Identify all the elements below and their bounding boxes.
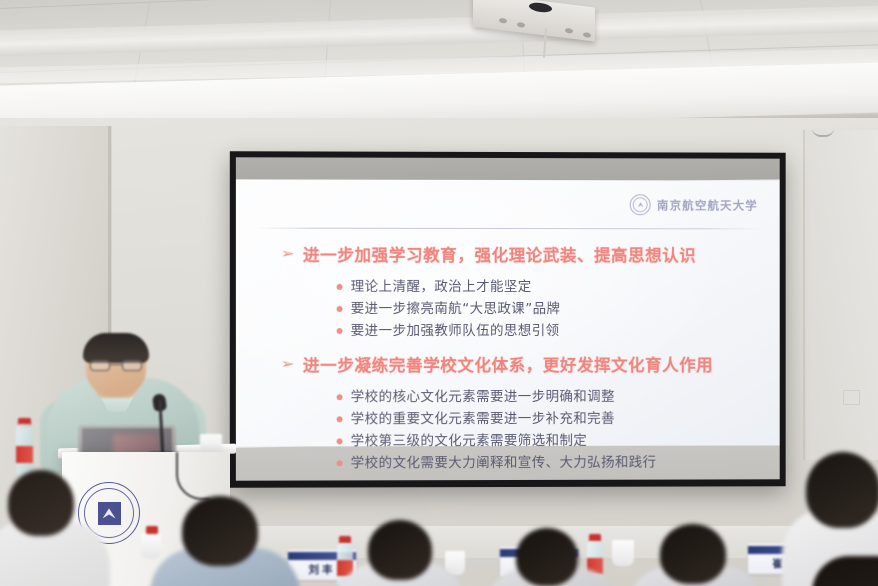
speaker-hair — [83, 333, 149, 363]
light-switch-plate — [843, 390, 860, 405]
list-item: 理论上清醒，政治上才能坚定 — [260, 277, 762, 299]
bullet-dot-icon — [337, 460, 343, 466]
projection-screen: 南京航空航天大学 ➢ 进一步加强学习教育，强化理论武装、提高思想认识 理论上清醒… — [230, 151, 786, 488]
eyeglasses-icon — [90, 360, 142, 371]
slide-header-divider — [254, 228, 762, 230]
list-item: 学校第三级的文化元素需要筛选和制定 — [260, 430, 762, 453]
conference-room-photo: 南京航空航天大学 ➢ 进一步加强学习教育，强化理论武装、提高思想认识 理论上清醒… — [0, 0, 878, 586]
section-1-heading-text: 进一步加强学习教育，强化理论武装、提高思想认识 — [303, 242, 696, 266]
list-item: 学校的重要文化元素需要进一步补充和完善 — [260, 408, 762, 431]
bullet-text: 学校的核心文化元素需要进一步明确和调整 — [351, 387, 615, 409]
list-item: 学校的核心文化元素需要进一步明确和调整 — [260, 387, 762, 409]
water-bottle-cap — [146, 526, 158, 534]
section-1-bullets: 理论上清醒，政治上才能坚定 要进一步擦亮南航“大思政课”品牌 要进一步加强教师队… — [260, 277, 762, 343]
bullet-text: 要进一步加强教师队伍的思想引领 — [351, 321, 560, 343]
paper-cup — [141, 534, 161, 559]
audience-head — [368, 520, 432, 580]
bullet-dot-icon — [337, 328, 343, 334]
university-emblem-icon — [630, 194, 651, 215]
university-logo-text: 南京航空航天大学 — [657, 197, 758, 213]
list-item: 学校的文化需要大力阐释和宣传、大力弘扬和践行 — [260, 452, 762, 475]
bullet-text: 学校的重要文化元素需要进一步补充和完善 — [351, 409, 615, 431]
bullet-text: 学校第三级的文化元素需要筛选和制定 — [351, 431, 588, 453]
screen-surface: 南京航空航天大学 ➢ 进一步加强学习教育，强化理论武装、提高思想认识 理论上清醒… — [236, 157, 780, 480]
audience-head — [8, 470, 74, 536]
water-bottle-label — [16, 446, 33, 463]
right-wall — [806, 130, 878, 460]
bullet-dot-icon — [337, 416, 343, 422]
bullet-dot-icon — [337, 438, 343, 444]
audience-head — [660, 524, 726, 584]
section-2-bullets: 学校的核心文化元素需要进一步明确和调整 学校的重要文化元素需要进一步补充和完善 … — [260, 387, 762, 475]
section-2-heading: ➢ 进一步凝练完善学校文化体系，更好发挥文化育人作用 — [260, 352, 762, 376]
bullet-text: 学校的文化需要大力阐释和宣传、大力弘扬和践行 — [351, 452, 657, 475]
section-1-heading: ➢ 进一步加强学习教育，强化理论武装、提高思想认识 — [260, 242, 762, 267]
audience-head — [182, 496, 258, 566]
slide-section-1: ➢ 进一步加强学习教育，强化理论武装、提高思想认识 理论上清醒，政治上才能坚定 … — [260, 242, 762, 343]
bullet-text: 理论上清醒，政治上才能坚定 — [351, 277, 532, 299]
university-logo: 南京航空航天大学 — [630, 194, 758, 215]
bullet-dot-icon — [337, 306, 343, 312]
right-wall-corner — [803, 130, 805, 460]
audience-head — [516, 528, 578, 586]
bullet-dot-icon — [337, 394, 343, 400]
slide-section-2: ➢ 进一步凝练完善学校文化体系，更好发挥文化育人作用 学校的核心文化元素需要进一… — [260, 352, 762, 475]
arrow-bullet-icon: ➢ — [281, 357, 295, 372]
presentation-slide: 南京航空航天大学 ➢ 进一步加强学习教育，强化理论武装、提高思想认识 理论上清醒… — [236, 179, 780, 446]
paper-cup — [612, 540, 634, 566]
nameplate-name: 刘丰 — [309, 562, 336, 577]
section-2-heading-text: 进一步凝练完善学校文化体系，更好发挥文化育人作用 — [303, 352, 713, 376]
list-item: 要进一步擦亮南航“大思政课”品牌 — [260, 299, 762, 321]
audience-head — [806, 452, 878, 528]
bullet-dot-icon — [337, 284, 343, 290]
bullet-text: 要进一步擦亮南航“大思政课”品牌 — [351, 299, 561, 321]
list-item: 要进一步加强教师队伍的思想引领 — [260, 321, 762, 343]
arrow-bullet-icon: ➢ — [281, 246, 295, 261]
